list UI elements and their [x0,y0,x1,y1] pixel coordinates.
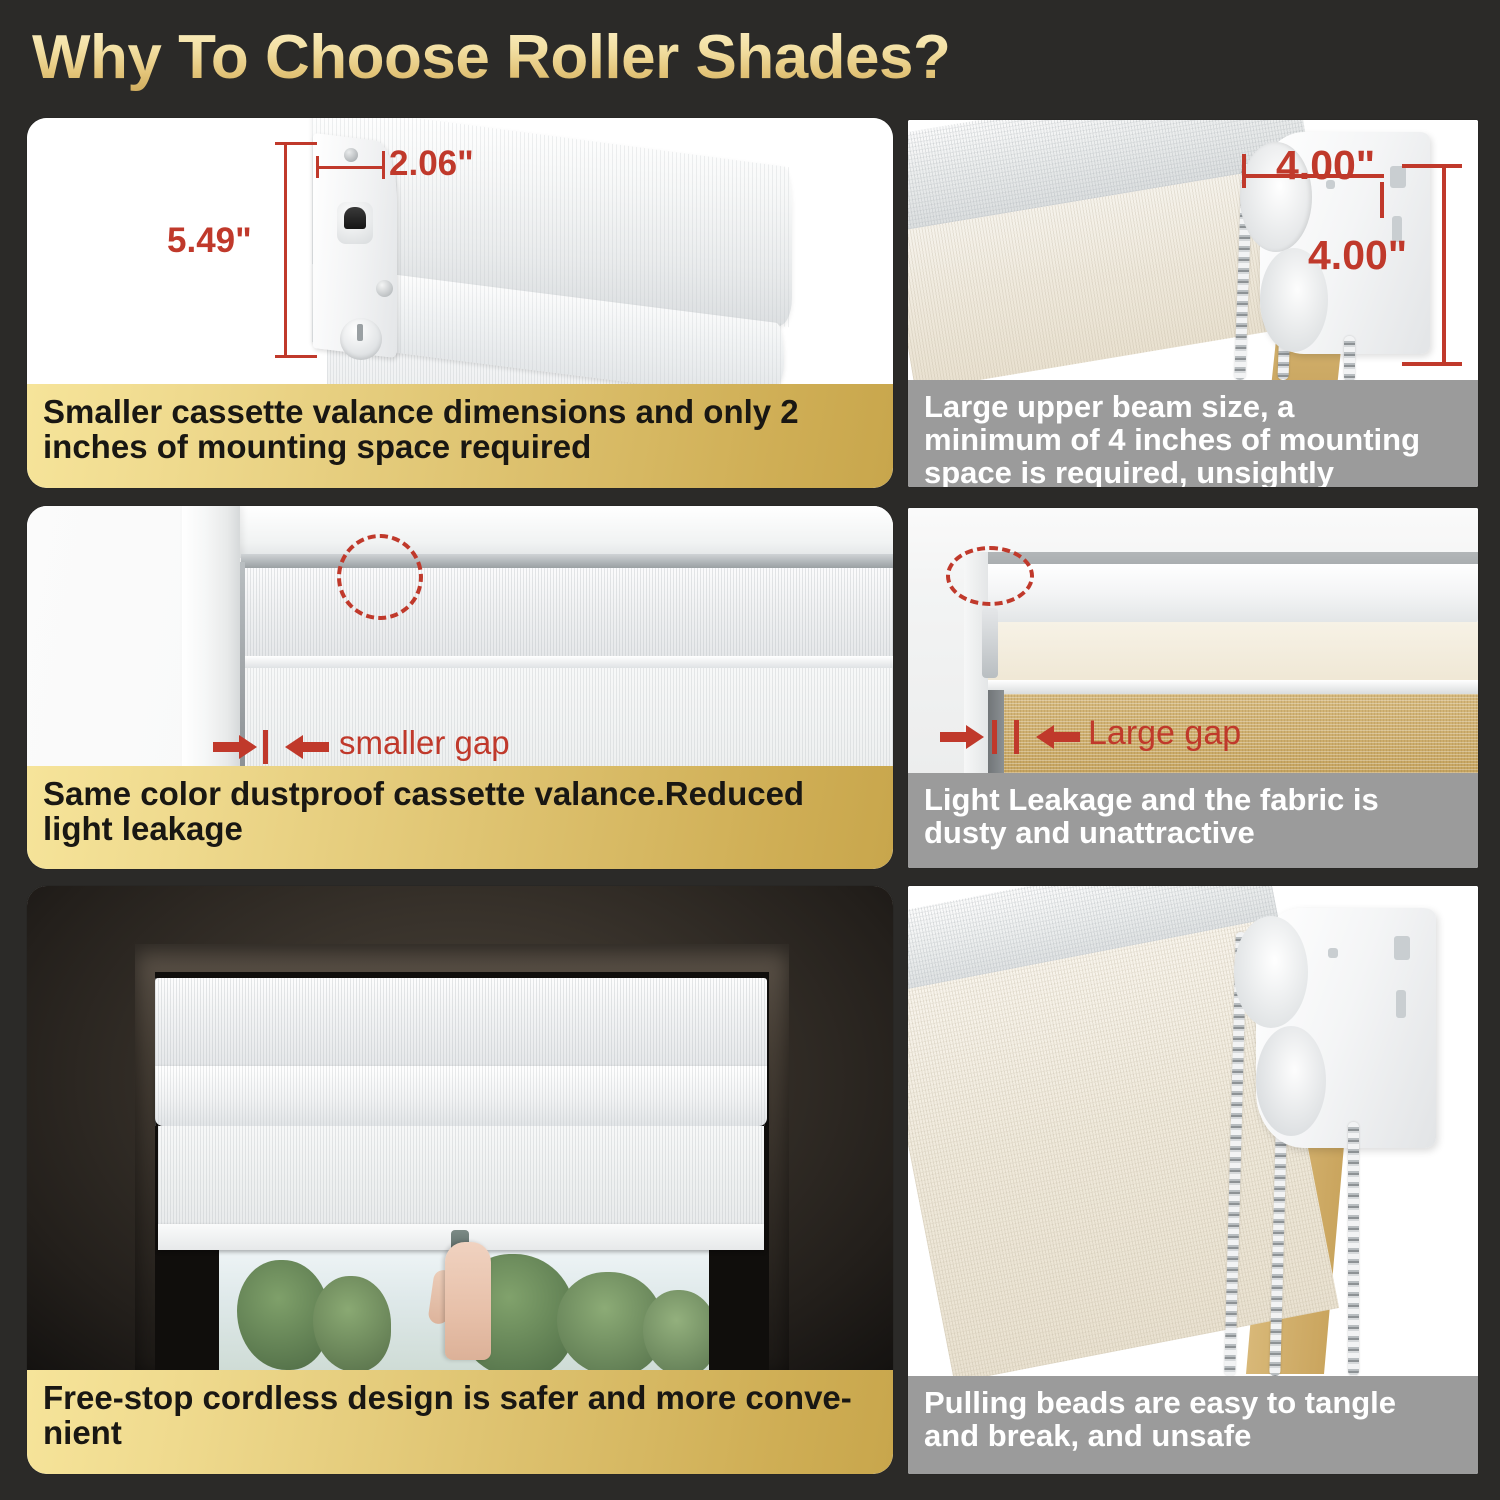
caption-line: Same color dustproof cassette valance.Re… [43,776,877,811]
valance-rail [974,680,1478,694]
caption-line: Light Leakage and the fabric is [924,783,1462,816]
caption-free-stop-cordless: Free-stop cordless design is safer and m… [27,1370,893,1474]
bracket-disc-upper [1234,916,1308,1028]
dimension-tick-bottom [275,355,317,358]
dimension-line-vertical [1442,164,1446,366]
tree-icon [313,1276,391,1370]
bead-chain-icon [1348,1122,1359,1376]
caption-line: and break, and unsafe [924,1419,1462,1452]
caption-large-upper-beam: Large upper beam size, a minimum of 4 in… [908,380,1478,487]
caption-line: Smaller cassette valance dimensions and … [43,394,877,429]
product-photo-light-leakage: Large gap [908,508,1478,773]
bracket-hole-icon [1328,948,1338,958]
gap-label-large: Large gap [1088,714,1241,753]
window-frame-top [182,506,893,558]
window-frame-left [182,506,240,766]
shade-fabric [158,1126,764,1224]
dimension-label-height: 4.00" [1308,232,1407,279]
valance-lip [241,656,893,668]
panel-large-upper-beam[interactable]: 4.00" 4.00" Large upper beam size, a min… [908,120,1478,487]
panel-pulling-beads[interactable]: Pulling beads are easy to tangle and bre… [908,886,1478,1474]
highlight-circle-icon [337,534,423,620]
valance-beige-band [974,622,1478,684]
dimension-line-horizontal [317,166,385,169]
dimension-label-height: 5.49" [167,221,252,261]
caption-smaller-cassette: Smaller cassette valance dimensions and … [27,384,893,488]
dimension-tick-left [316,156,319,178]
caption-line: dusty and unattractive [924,816,1462,849]
roller-tube [970,564,1478,624]
comparison-grid: 5.49" 2.06" Smaller cassette valance dim… [0,0,1500,1500]
caption-dustproof-cassette: Same color dustproof cassette valance.Re… [27,766,893,869]
caption-line: nient [43,1415,877,1450]
caption-line: space is required, unsightly [924,456,1462,487]
caption-line: inches of mounting space required [43,429,877,464]
bracket-slot-icon [1390,166,1406,188]
bracket-slot-icon [1396,990,1406,1018]
caption-pulling-beads: Pulling beads are easy to tangle and bre… [908,1376,1478,1474]
bracket-screw-top-icon [344,148,358,162]
dimension-tick-right [382,151,385,179]
caption-line: Large upper beam size, a [924,390,1462,423]
bracket-clip [982,608,998,678]
bracket-slot-icon [1394,936,1410,960]
cassette-valance [155,978,767,1066]
dimension-tick-bottom [1402,362,1462,366]
caption-line: Free-stop cordless design is safer and m… [43,1380,877,1415]
caption-light-leakage: Light Leakage and the fabric is dusty an… [908,773,1478,868]
bracket-disc-lower [1256,1026,1326,1136]
panel-free-stop-cordless[interactable]: Free-stop cordless design is safer and m… [27,886,893,1474]
dimension-line-vertical [284,142,287,358]
dimension-tick-top [275,142,317,145]
panel-light-leakage[interactable]: Large gap Light Leakage and the fabric i… [908,508,1478,868]
gap-label-smaller: smaller gap [339,724,510,762]
dimension-tick-left [1242,154,1246,188]
highlight-circle-icon [946,546,1034,606]
bead-chain-icon [1344,336,1355,380]
caption-line: minimum of 4 inches of mounting [924,423,1462,456]
bracket-screw-icon [376,280,393,297]
caption-line: light leakage [43,811,877,846]
panel-smaller-cassette[interactable]: 5.49" 2.06" Smaller cassette valance dim… [27,118,893,488]
tree-icon [643,1290,709,1370]
dimension-tick-right [1380,182,1384,218]
product-photo-bead-chain [908,886,1478,1376]
hand-lifting-shade [445,1242,491,1360]
bracket-clutch-slot [337,202,373,244]
lifestyle-photo-cordless-shade [27,886,893,1370]
product-photo-large-beam: 4.00" 4.00" [908,120,1478,380]
valance-lower-lip [155,1066,767,1126]
dimension-label-width: 4.00" [1276,142,1375,189]
bracket-pin-knob [340,318,382,360]
panel-dustproof-cassette[interactable]: smaller gap Same color dustproof cassett… [27,506,893,869]
product-photo-cassette-valance: 5.49" 2.06" [27,118,893,384]
product-photo-dustproof-valance: smaller gap [27,506,893,766]
dimension-tick-top [1402,164,1462,168]
caption-line: Pulling beads are easy to tangle [924,1386,1462,1419]
dimension-label-width: 2.06" [389,144,474,184]
